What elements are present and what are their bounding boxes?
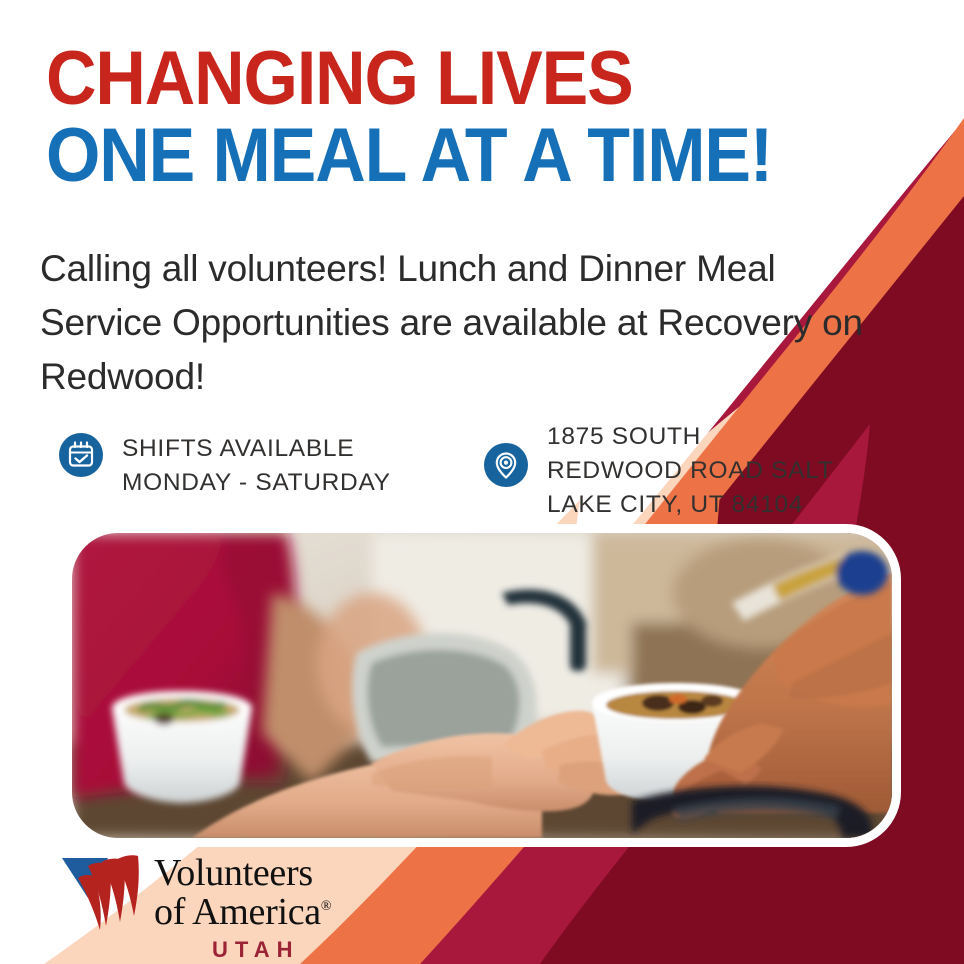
meal-service-photo xyxy=(72,533,892,838)
headline: CHANGING LIVES ONE MEAL AT A TIME! xyxy=(46,44,835,191)
address-line-2: REDWOOD ROAD SALT xyxy=(547,454,833,488)
info-row: SHIFTS AVAILABLE MONDAY - SATURDAY 1875 … xyxy=(58,418,888,521)
volunteers-of-america-logo: Volunteers of America® UTAH xyxy=(58,852,332,963)
logo-line-1: Volunteers xyxy=(154,854,332,893)
photo-frame xyxy=(72,533,892,838)
address-line-3: LAKE CITY, UT 84104 xyxy=(547,488,833,522)
shifts-line-1: SHIFTS AVAILABLE xyxy=(122,432,391,466)
map-pin-icon xyxy=(483,442,529,488)
calendar-check-icon xyxy=(58,432,104,478)
body-paragraph: Calling all volunteers! Lunch and Dinner… xyxy=(40,242,885,404)
poster-canvas: CHANGING LIVES ONE MEAL AT A TIME! Calli… xyxy=(0,0,964,964)
logo-line-2: of America® xyxy=(154,893,332,932)
headline-line-2: ONE MEAL AT A TIME! xyxy=(46,121,772,192)
body-copy: Calling all volunteers! Lunch and Dinner… xyxy=(40,242,885,404)
registered-mark: ® xyxy=(321,899,332,914)
logo-affiliate: UTAH xyxy=(154,937,332,963)
info-block-shifts: SHIFTS AVAILABLE MONDAY - SATURDAY xyxy=(58,418,483,500)
shifts-line-2: MONDAY - SATURDAY xyxy=(122,466,391,500)
logo-wordmark: Volunteers of America® UTAH xyxy=(154,852,332,963)
address-text: 1875 SOUTH REDWOOD ROAD SALT LAKE CITY, … xyxy=(547,420,833,521)
voa-chevron-icon xyxy=(58,852,146,936)
info-block-address: 1875 SOUTH REDWOOD ROAD SALT LAKE CITY, … xyxy=(483,418,883,521)
photo-card xyxy=(72,533,892,838)
headline-line-1: CHANGING LIVES xyxy=(46,44,772,115)
logo-line-2-text: of America xyxy=(154,891,321,933)
shifts-text: SHIFTS AVAILABLE MONDAY - SATURDAY xyxy=(122,432,391,500)
address-line-1: 1875 SOUTH xyxy=(547,420,833,454)
